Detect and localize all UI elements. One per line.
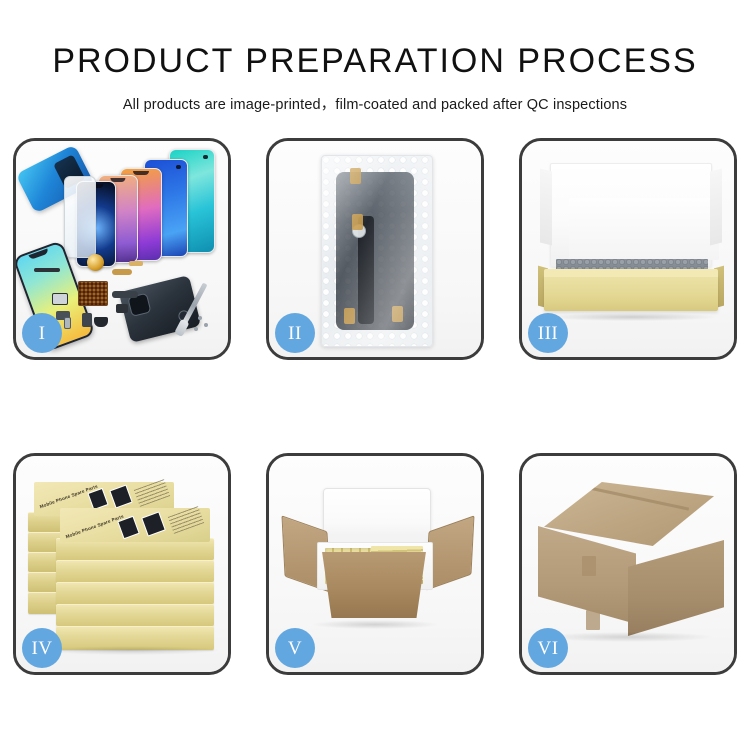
box-slab [56, 560, 214, 582]
screw-icon [198, 316, 202, 320]
step-badge-4: IV [22, 628, 62, 668]
drop-shadow [313, 620, 437, 629]
drop-shadow [548, 313, 716, 321]
screw-tray-icon [78, 281, 108, 306]
tape-icon [586, 610, 600, 630]
step-badge-5: V [275, 628, 315, 668]
tape-icon [350, 168, 361, 184]
speaker-mesh-icon [94, 317, 108, 327]
carton-body-icon [315, 552, 433, 618]
tape-icon [352, 214, 363, 230]
step-badge-1: I [22, 313, 62, 353]
box-slab [56, 604, 214, 626]
process-step-1[interactable]: I [13, 138, 231, 360]
tempered-glass-sheet-icon [64, 176, 96, 258]
flex-cable-icon [34, 268, 60, 272]
sensor-part-icon [64, 317, 71, 329]
process-step-grid: I II [0, 133, 750, 693]
gold-connector-icon [112, 269, 132, 275]
retail-box-top-2: Mobile Phone Spare Parts [60, 508, 210, 540]
step-badge-6: VI [528, 628, 568, 668]
tape-icon [582, 556, 596, 576]
process-step-5[interactable]: V [266, 453, 484, 675]
open-shipping-carton [283, 480, 473, 648]
header: PRODUCT PREPARATION PROCESS All products… [0, 0, 750, 114]
bubble-wrap-bag [321, 155, 433, 347]
screw-icon [204, 323, 208, 327]
stacked-retail-boxes: Mobile Phone Spare Parts Mobile Phone Sp… [26, 482, 224, 652]
box-base-icon [544, 275, 718, 311]
process-step-6[interactable]: VI [519, 453, 737, 675]
screw-icon [194, 327, 198, 331]
process-step-2[interactable]: II [266, 138, 484, 360]
antenna-cable-icon [112, 291, 138, 298]
tape-icon [392, 306, 403, 322]
sealed-shipping-carton [538, 482, 724, 648]
box-slab [56, 582, 214, 604]
drop-shadow [546, 632, 712, 642]
vibration-motor-icon [87, 254, 104, 271]
carton-right-face [628, 540, 724, 636]
process-step-4[interactable]: Mobile Phone Spare Parts Mobile Phone Sp… [13, 453, 231, 675]
product-preparation-infographic: PRODUCT PREPARATION PROCESS All products… [0, 0, 750, 750]
tape-icon [344, 308, 355, 324]
process-step-3[interactable]: III [519, 138, 737, 360]
foam-lid-icon [323, 488, 431, 546]
open-mailer-box [538, 163, 724, 323]
sim-tray-icon [52, 293, 68, 305]
foam-sheet-icon [569, 198, 719, 260]
camera-module-icon [116, 304, 128, 313]
step-badge-3: III [528, 313, 568, 353]
button-part-icon [82, 313, 92, 327]
page-title: PRODUCT PREPARATION PROCESS [0, 44, 750, 78]
carton-seam [579, 484, 689, 510]
drop-shadow [42, 646, 218, 655]
phone-screen-fan [76, 149, 226, 267]
gold-contact-icon [129, 261, 143, 266]
page-subtitle: All products are image-printed，film-coat… [0, 93, 750, 114]
box-lid-icon [550, 163, 712, 267]
step-badge-2: II [275, 313, 315, 353]
